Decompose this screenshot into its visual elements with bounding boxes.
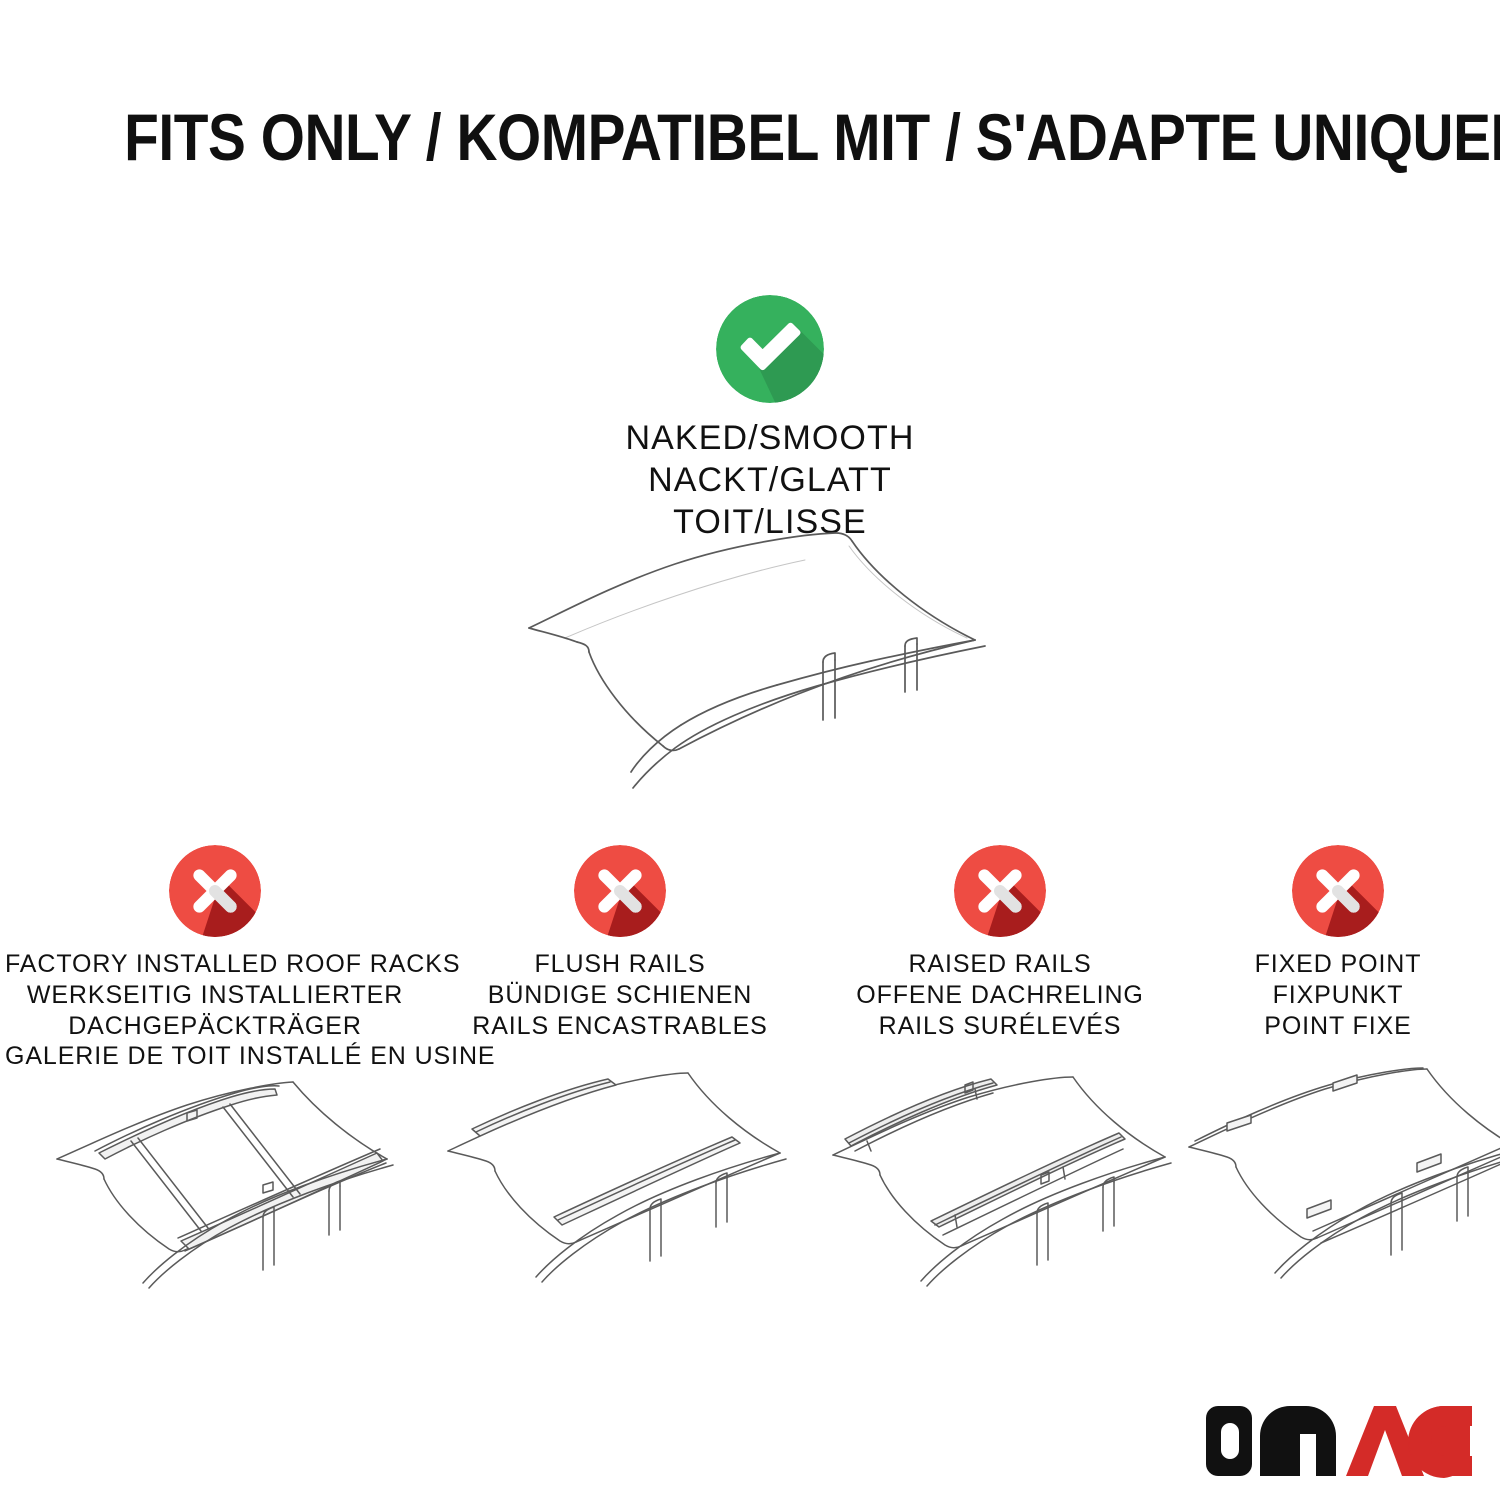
red-cross-circle-icon (1292, 845, 1384, 937)
incompatible-label-2: RAISED RAILS OFFENE DACHRELING RAILS SUR… (812, 949, 1188, 1041)
incompatible-label-0: FACTORY INSTALLED ROOF RACKS WERKSEITIG … (5, 949, 425, 1072)
incompatible-label-3: FIXED POINT FIXPUNKT POINT FIXE (1178, 949, 1498, 1041)
compatible-section: NAKED/SMOOTH NACKT/GLATT TOIT/LISSE (460, 295, 1080, 543)
incompatible-label-0-line-3: DACHGEPÄCKTRÄGER (5, 1011, 425, 1042)
red-cross-circle-icon (574, 845, 666, 937)
incompatible-label-1: FLUSH RAILS BÜNDIGE SCHIENEN RAILS ENCAS… (432, 949, 808, 1041)
compatible-label-line-1: NAKED/SMOOTH (460, 417, 1080, 459)
red-cross-circle-icon (169, 845, 261, 937)
green-check-circle-icon (716, 295, 824, 403)
page-title: FITS ONLY / KOMPATIBEL MIT / S'ADAPTE UN… (0, 104, 1500, 170)
compatible-label-line-2: NACKT/GLATT (460, 459, 1080, 501)
incompatible-label-0-line-2: WERKSEITIG INSTALLIERTER (5, 980, 425, 1011)
incompatible-label-2-line-2: OFFENE DACHRELING (812, 980, 1188, 1011)
incompatible-label-2-line-3: RAILS SURÉLEVÉS (812, 1011, 1188, 1042)
incompatible-label-1-line-1: FLUSH RAILS (432, 949, 808, 980)
car-roof-raised-rails-illustration (815, 1055, 1215, 1290)
incompatible-label-2-line-1: RAISED RAILS (812, 949, 1188, 980)
car-roof-fixed-point-illustration (1165, 1055, 1500, 1290)
car-roof-factory-rack-illustration (35, 1055, 435, 1290)
incompatible-label-0-line-1: FACTORY INSTALLED ROOF RACKS (5, 949, 425, 980)
incompatible-section: FACTORY INSTALLED ROOF RACKS WERKSEITIG … (0, 845, 1500, 1085)
incompatible-item-fixed-point: FIXED POINT FIXPUNKT POINT FIXE (1178, 845, 1498, 1041)
incompatible-label-3-line-2: FIXPUNKT (1178, 980, 1498, 1011)
incompatible-label-1-line-2: BÜNDIGE SCHIENEN (432, 980, 808, 1011)
car-roof-flush-rails-illustration (432, 1055, 832, 1290)
incompatible-item-flush-rails: FLUSH RAILS BÜNDIGE SCHIENEN RAILS ENCAS… (432, 845, 808, 1041)
car-roof-naked-smooth-illustration (505, 520, 1035, 800)
incompatible-label-3-line-3: POINT FIXE (1178, 1011, 1498, 1042)
incompatible-item-raised-rails: RAISED RAILS OFFENE DACHRELING RAILS SUR… (812, 845, 1188, 1041)
omac-logo: OMAC (1204, 1404, 1472, 1478)
incompatible-label-3-line-1: FIXED POINT (1178, 949, 1498, 980)
incompatible-item-factory-installed-roof-racks: FACTORY INSTALLED ROOF RACKS WERKSEITIG … (5, 845, 425, 1072)
incompatible-label-1-line-3: RAILS ENCASTRABLES (432, 1011, 808, 1042)
red-cross-circle-icon (954, 845, 1046, 937)
page-title-text: FITS ONLY / KOMPATIBEL MIT / S'ADAPTE UN… (124, 104, 1500, 170)
